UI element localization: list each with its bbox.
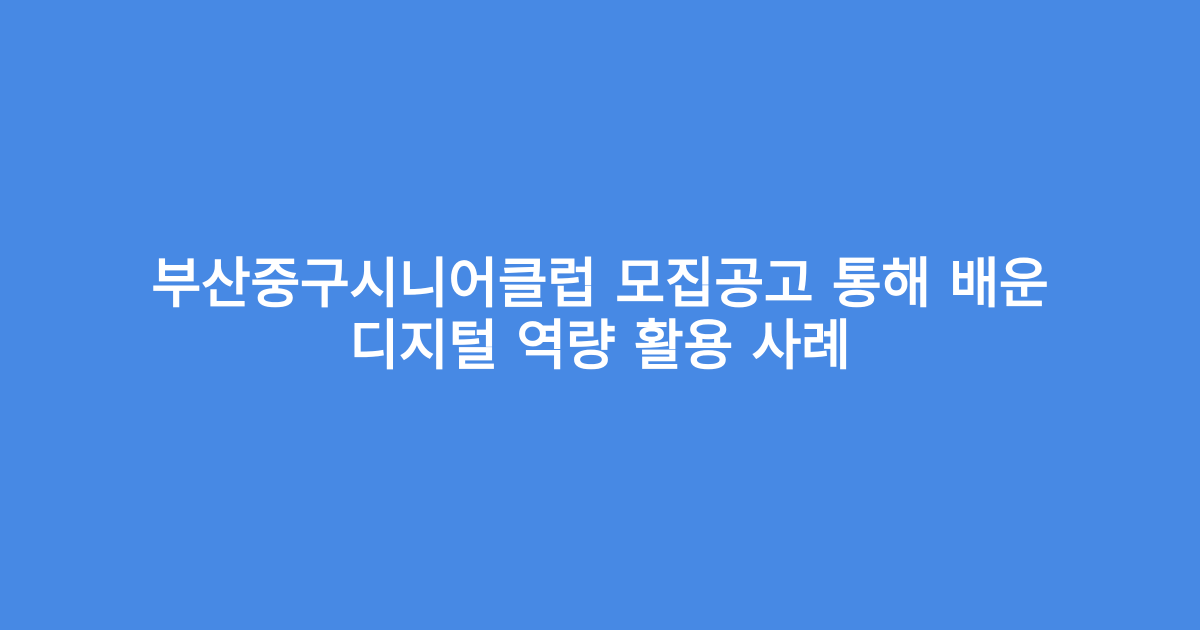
page-title: 부산중구시니어클럽 모집공고 통해 배운 디지털 역량 활용 사례 xyxy=(80,253,1120,377)
title-block: 부산중구시니어클럽 모집공고 통해 배운 디지털 역량 활용 사례 xyxy=(70,253,1130,377)
og-image-card: 부산중구시니어클럽 모집공고 통해 배운 디지털 역량 활용 사례 xyxy=(0,0,1200,630)
